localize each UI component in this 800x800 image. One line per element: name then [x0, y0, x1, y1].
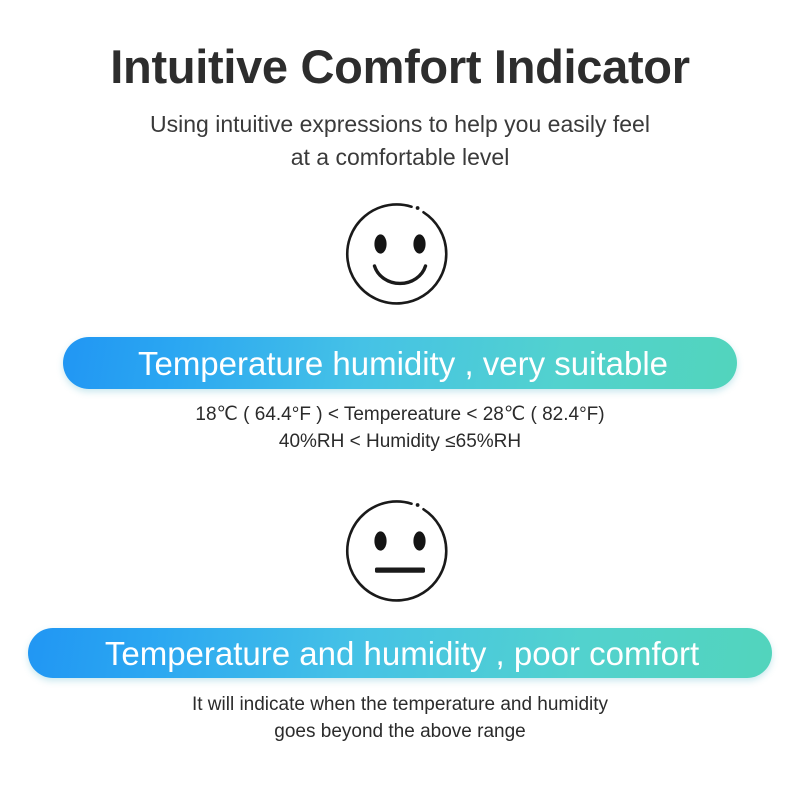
page-title: Intuitive Comfort Indicator: [0, 40, 800, 94]
comfort-status-pill-poor-label: Temperature and humidity , poor comfort: [101, 637, 699, 670]
comfort-status-pill-suitable-label: Temperature humidity , very suitable: [132, 347, 668, 380]
page-subtitle-line-1: Using intuitive expressions to help you …: [0, 108, 800, 141]
comfort-indicator-page: Intuitive Comfort Indicator Using intuit…: [0, 0, 800, 800]
comfort-range-caption: 18℃ ( 64.4°F ) < Tempereature < 28℃ ( 82…: [0, 402, 800, 456]
poor-comfort-caption-line-1: It will indicate when the temperature an…: [0, 692, 800, 719]
smiley-neutral-face-icon: [348, 500, 452, 604]
poor-comfort-caption: It will indicate when the temperature an…: [0, 692, 800, 746]
poor-comfort-caption-line-2: goes beyond the above range: [0, 719, 800, 746]
smiley-happy-face-icon: [348, 203, 452, 307]
page-subtitle: Using intuitive expressions to help you …: [0, 108, 800, 175]
happy-face-container: [0, 203, 800, 307]
comfort-range-temperature: 18℃ ( 64.4°F ) < Tempereature < 28℃ ( 82…: [0, 402, 800, 429]
neutral-face-container: [0, 500, 800, 604]
page-subtitle-line-2: at a comfortable level: [0, 141, 800, 174]
comfort-status-pill-suitable[interactable]: Temperature humidity , very suitable: [63, 337, 737, 389]
comfort-status-pill-poor[interactable]: Temperature and humidity , poor comfort: [28, 628, 772, 678]
comfort-range-humidity: 40%RH < Humidity ≤65%RH: [0, 429, 800, 456]
